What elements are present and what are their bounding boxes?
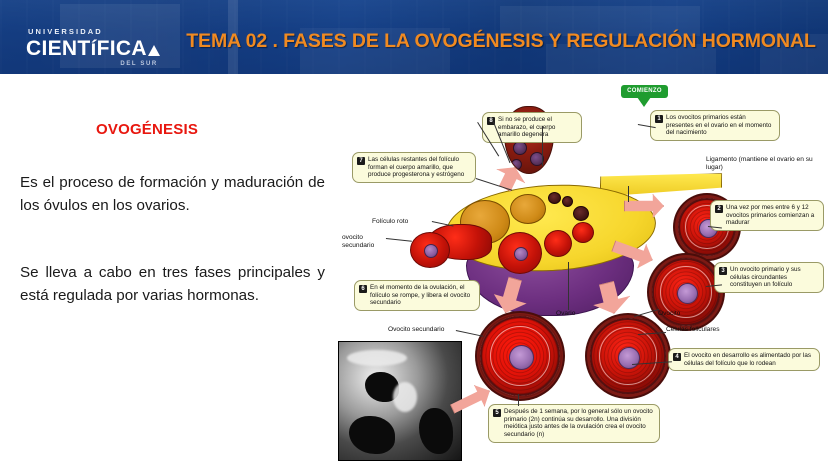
released-oocyte — [410, 232, 450, 268]
slide-header: UNIVERSIDAD CIENTíFICA DEL SUR TEMA 02 .… — [0, 0, 828, 74]
sem-bright-region — [347, 350, 407, 366]
oocyte-dot — [513, 141, 527, 155]
primordial-follicle — [562, 196, 573, 207]
oocyte-nucleus — [424, 244, 438, 258]
leader-line — [518, 394, 519, 406]
callout-8-text: Si no se produce el embarazo, el cuerpo … — [498, 116, 575, 139]
callout-4-number: 4 — [673, 353, 681, 361]
leader-line — [386, 238, 412, 242]
oocyte-core — [618, 347, 640, 369]
growing-follicle — [544, 230, 572, 257]
primordial-follicle — [548, 192, 561, 204]
callout-4[interactable]: 4El ovocito en desarrollo es alimentado … — [668, 348, 820, 371]
label-oocyte: Ovocito — [658, 310, 680, 318]
logo-caret-icon — [148, 45, 160, 56]
callout-8[interactable]: 8Si no se produce el embarazo, el cuerpo… — [482, 112, 582, 143]
logo-name-text: CIENTíFICA — [26, 38, 147, 59]
page-title: TEMA 02 . FASES DE LA OVOGÉNESIS Y REGUL… — [186, 30, 816, 53]
label-ligament: Ligamento (mantiene el ovario en su luga… — [706, 156, 816, 172]
label-ruptured-follicle: Folículo roto — [372, 218, 432, 226]
callout-2[interactable]: 2Una vez por mes entre 6 y 12 ovocitos p… — [710, 200, 824, 231]
university-logo: UNIVERSIDAD CIENTíFICA DEL SUR — [26, 28, 160, 67]
leader-line — [568, 262, 569, 310]
callout-3-text: Un ovocito primario y sus células circun… — [730, 266, 817, 289]
start-badge-arrow-icon — [637, 97, 651, 107]
sem-dark-region — [419, 408, 453, 454]
sem-micrograph — [338, 341, 462, 461]
callout-6-text: En el momento de la ovulación, el folícu… — [370, 284, 473, 307]
callout-2-text: Una vez por mes entre 6 y 12 ovocitos pr… — [726, 204, 817, 227]
callout-6[interactable]: 6En el momento de la ovulación, el folíc… — [354, 280, 480, 311]
label-follicular-cells: Células foliculares — [666, 326, 720, 334]
callout-3[interactable]: 3Un ovocito primario y sus células circu… — [714, 262, 824, 293]
follicle-stage-5 — [480, 316, 560, 396]
corpus-luteum-small — [510, 194, 546, 224]
label-ovary: Ovario — [556, 310, 575, 318]
leader-line — [634, 309, 659, 317]
label-secondary-oocyte-small: ovocito secundario — [342, 234, 386, 250]
callout-1[interactable]: 1Los ovocitos primarios están presentes … — [650, 110, 780, 141]
logo-name: CIENTíFICA — [26, 38, 160, 59]
callout-1-number: 1 — [655, 115, 663, 123]
oocyte-nucleus — [514, 247, 528, 261]
label-secondary-oocyte: Ovocito secundario — [388, 326, 444, 334]
callout-7-number: 7 — [357, 157, 365, 165]
callout-5[interactable]: 5Después de 1 semana, por lo general sól… — [488, 404, 660, 443]
mature-follicle — [498, 232, 542, 274]
sem-dark-region — [349, 416, 395, 454]
body-paragraph-2: Se lleva a cabo en tres fases principale… — [20, 262, 325, 308]
leader-line — [542, 126, 543, 166]
logo-top-line: UNIVERSIDAD — [28, 28, 160, 36]
ovogenesis-diagram: COMIENZO — [332, 82, 828, 466]
callout-1-text: Los ovocitos primarios están presentes e… — [666, 114, 773, 137]
secondary-oocyte-core — [509, 345, 534, 370]
growing-follicle — [572, 222, 594, 243]
sem-bright-region — [393, 382, 417, 412]
follicle-stage-4 — [590, 318, 666, 394]
body-paragraph-1: Es el proceso de formación y maduración … — [20, 172, 325, 218]
section-title: OVOGÉNESIS — [96, 121, 198, 138]
callout-2-number: 2 — [715, 205, 723, 213]
callout-3-number: 3 — [719, 267, 727, 275]
slide: UNIVERSIDAD CIENTíFICA DEL SUR TEMA 02 .… — [0, 0, 828, 466]
leader-line — [456, 330, 484, 337]
logo-sub-line: DEL SUR — [26, 61, 158, 67]
primary-follicle — [573, 206, 589, 221]
callout-5-number: 5 — [493, 409, 501, 417]
callout-7-text: Las células restantes del folículo forma… — [368, 156, 469, 179]
callout-6-number: 6 — [359, 285, 367, 293]
callout-5-text: Después de 1 semana, por lo general sólo… — [504, 408, 653, 439]
callout-7[interactable]: 7Las células restantes del folículo form… — [352, 152, 476, 183]
leader-line — [628, 186, 629, 202]
callout-4-text: El ovocito en desarrollo es alimentado p… — [684, 352, 813, 367]
oocyte-core — [677, 283, 698, 304]
